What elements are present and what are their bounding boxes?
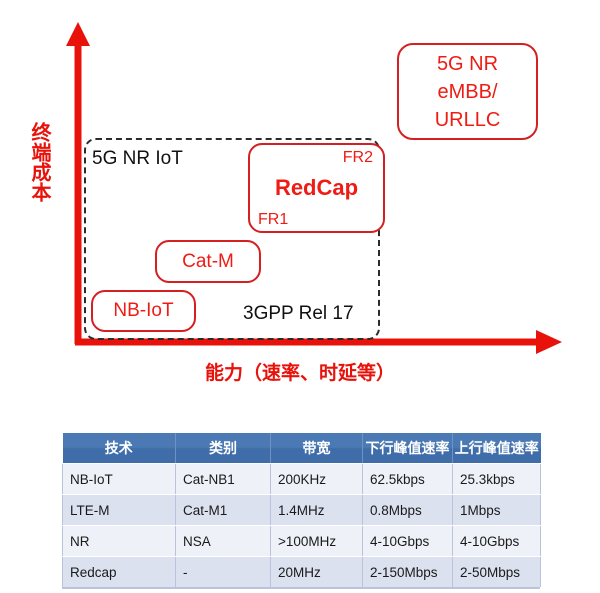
table-cell: 1.4MHz (271, 495, 363, 526)
y-axis-arrowhead (66, 22, 90, 46)
x-axis-arrowhead (536, 330, 562, 354)
table-row: NR NSA >100MHz 4-10Gbps 4-10Gbps (63, 526, 541, 557)
redcap-label: RedCap (250, 175, 383, 201)
table-header-cell: 下行峰值速率 (363, 433, 453, 464)
embb-line-1: 5G NR (437, 50, 498, 78)
table-cell: 62.5kbps (363, 464, 453, 495)
release-note-label: 3GPP Rel 17 (243, 303, 354, 325)
table-cell: Cat-M1 (176, 495, 271, 526)
table-row: LTE-M Cat-M1 1.4MHz 0.8Mbps 1Mbps (63, 495, 541, 526)
group-box-title: 5G NR IoT (92, 148, 183, 170)
table-cell: 25.3kbps (453, 464, 541, 495)
table-header-cell: 技术 (63, 433, 176, 464)
table-cell: NSA (176, 526, 271, 557)
y-axis-label: 终端成本 (20, 122, 54, 202)
table-header-cell: 上行峰值速率 (453, 433, 541, 464)
table-cell: - (176, 557, 271, 588)
table-cell: Cat-NB1 (176, 464, 271, 495)
table-cell: NR (63, 526, 176, 557)
table-head: 技术 类别 带宽 下行峰值速率 上行峰值速率 (63, 433, 541, 464)
table-header-cell: 带宽 (271, 433, 363, 464)
table-cell: LTE-M (63, 495, 176, 526)
table-header-row: 技术 类别 带宽 下行峰值速率 上行峰值速率 (63, 433, 541, 464)
table-cell: >100MHz (271, 526, 363, 557)
table-cell: NB-IoT (63, 464, 176, 495)
box-redcap[interactable]: FR2 RedCap FR1 (248, 143, 385, 233)
table-cell: 1Mbps (453, 495, 541, 526)
nb-iot-label: NB-IoT (113, 300, 173, 322)
spec-table: 技术 类别 带宽 下行峰值速率 上行峰值速率 NB-IoT Cat-NB1 20… (62, 433, 541, 587)
table-cell: 20MHz (271, 557, 363, 588)
table-cell: 2-150Mbps (363, 557, 453, 588)
table-cell: 200KHz (271, 464, 363, 495)
capability-cost-diagram: 终端成本 能力（速率、时延等） 5G NR IoT 3GPP Rel 17 5G… (0, 0, 600, 400)
table-cell: 2-50Mbps (453, 557, 541, 588)
embb-line-2: eMBB/ (437, 78, 497, 106)
table-cell: 4-10Gbps (363, 526, 453, 557)
table-header-cell: 类别 (176, 433, 271, 464)
table-body: NB-IoT Cat-NB1 200KHz 62.5kbps 25.3kbps … (63, 464, 541, 588)
x-axis-label: 能力（速率、时延等） (205, 358, 395, 385)
fr2-label: FR2 (343, 149, 373, 167)
box-nb-iot[interactable]: NB-IoT (91, 290, 196, 332)
cat-m-label: Cat-M (182, 251, 234, 273)
table-cell: 4-10Gbps (453, 526, 541, 557)
table-row: NB-IoT Cat-NB1 200KHz 62.5kbps 25.3kbps (63, 464, 541, 495)
embb-line-3: URLLC (435, 106, 501, 134)
table-cell: 0.8Mbps (363, 495, 453, 526)
table-row: Redcap - 20MHz 2-150Mbps 2-50Mbps (63, 557, 541, 588)
box-5g-nr-embb-urllc[interactable]: 5G NR eMBB/ URLLC (397, 43, 538, 140)
fr1-label: FR1 (258, 211, 288, 229)
spec-table-wrapper: 技术 类别 带宽 下行峰值速率 上行峰值速率 NB-IoT Cat-NB1 20… (62, 433, 540, 589)
table-cell: Redcap (63, 557, 176, 588)
box-cat-m[interactable]: Cat-M (155, 240, 261, 283)
